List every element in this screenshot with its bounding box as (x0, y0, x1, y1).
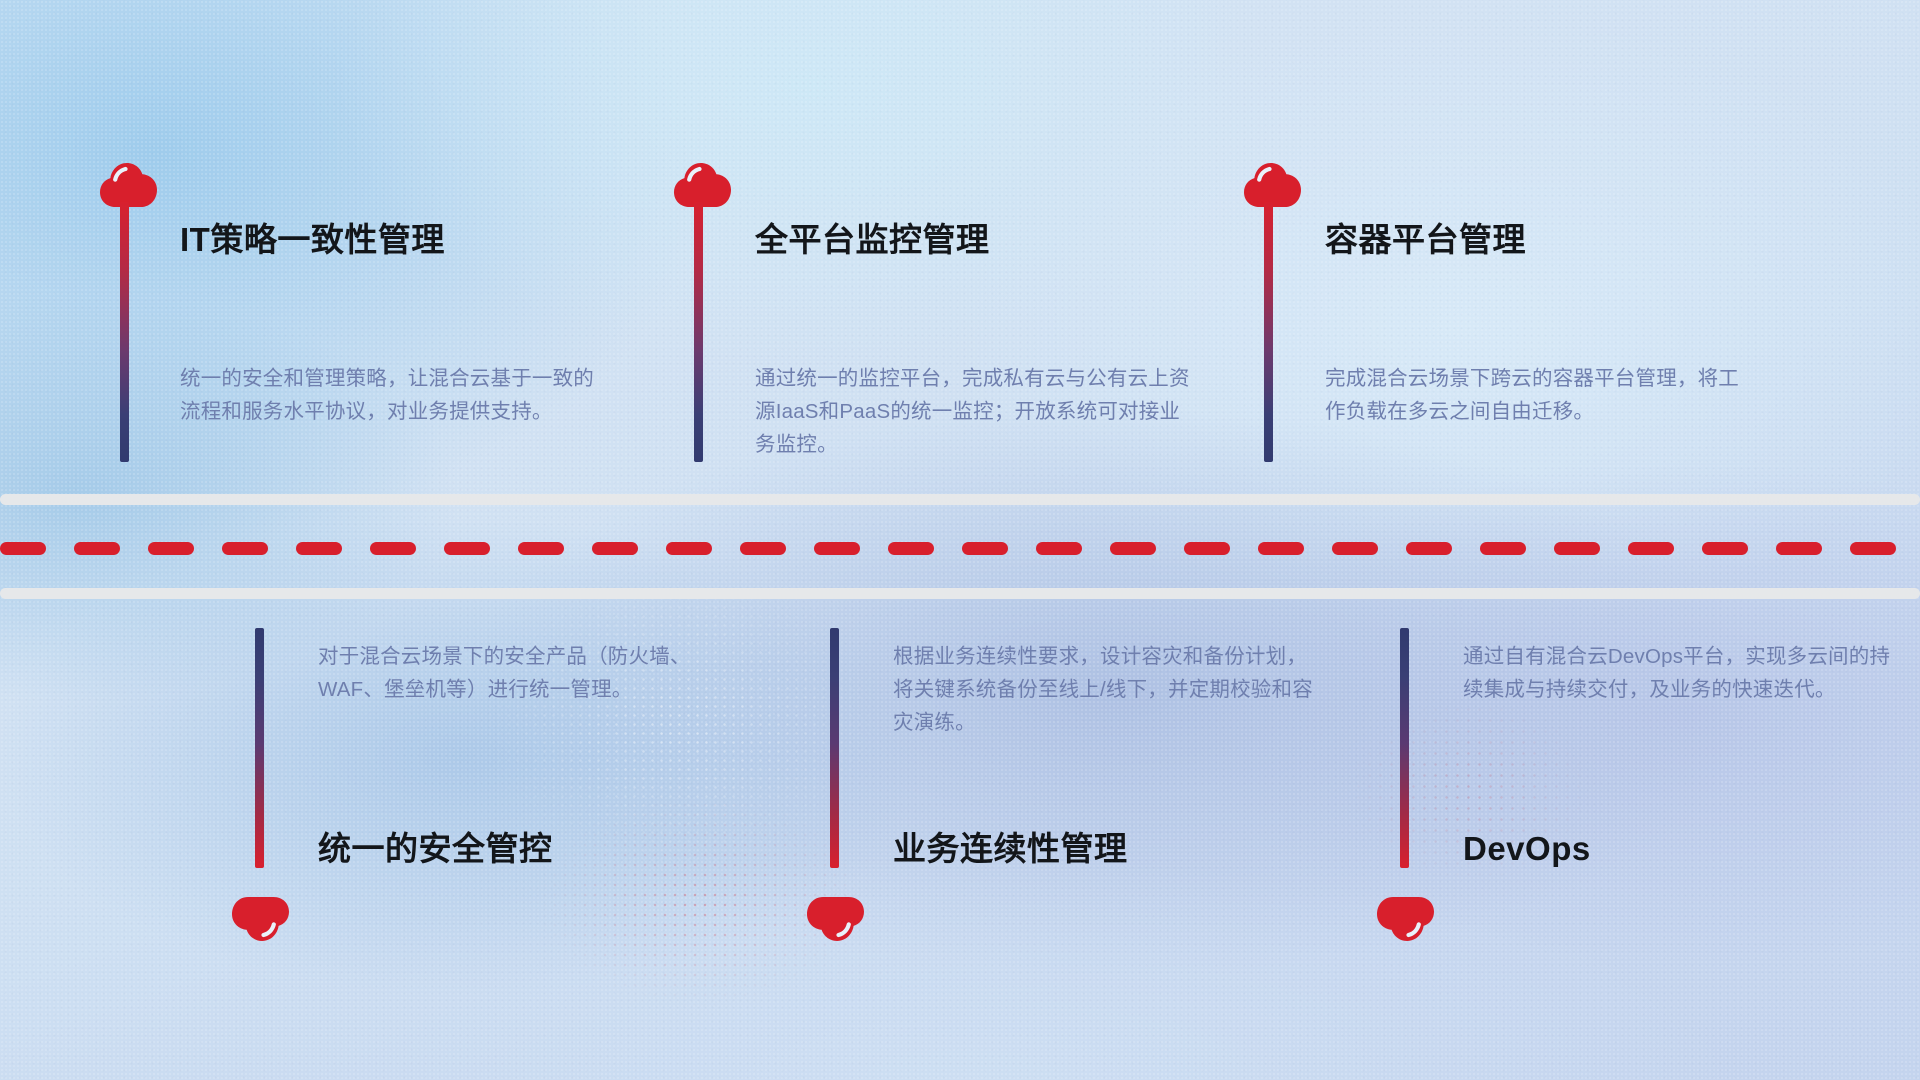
divider-dash (1554, 542, 1600, 555)
top-column-2-body: 通过统一的监控平台，完成私有云与公有云上资源IaaS和PaaS的统一监控；开放系… (755, 362, 1195, 461)
top-column-3-cloud (1242, 160, 1304, 208)
divider-dash (888, 542, 934, 555)
divider-dash (1480, 542, 1526, 555)
divider-dash (740, 542, 786, 555)
divider-dash (444, 542, 490, 555)
divider-line-dashed (0, 542, 1920, 555)
top-column-1-cloud (98, 160, 160, 208)
cloud-icon (804, 896, 866, 944)
divider-dash (370, 542, 416, 555)
cloud-icon (1242, 160, 1304, 208)
bottom-column-1-stem (255, 628, 264, 868)
divider-dash (1776, 542, 1822, 555)
bottom-column-3-heading: DevOps (1463, 832, 1591, 865)
divider-dash (592, 542, 638, 555)
top-column-3-stem (1264, 202, 1273, 462)
divider-dash (148, 542, 194, 555)
bottom-column-1-cloud (229, 896, 291, 944)
top-column-3-body: 完成混合云场景下跨云的容器平台管理，将工作负载在多云之间自由迁移。 (1325, 362, 1755, 428)
top-column-2-cloud (672, 160, 734, 208)
bottom-column-1-heading: 统一的安全管控 (318, 832, 553, 865)
divider-dash (74, 542, 120, 555)
cloud-icon (98, 160, 160, 208)
divider-dash (1258, 542, 1304, 555)
bottom-column-2-heading: 业务连续性管理 (893, 832, 1128, 865)
divider-dash (1850, 542, 1896, 555)
top-column-1-heading: IT策略一致性管理 (180, 223, 445, 256)
divider-dash (1110, 542, 1156, 555)
top-column-2-stem (694, 202, 703, 462)
divider-dash (666, 542, 712, 555)
bottom-column-2-cloud (804, 896, 866, 944)
infographic-canvas: IT策略一致性管理 统一的安全和管理策略，让混合云基于一致的流程和服务水平协议，… (0, 0, 1920, 1080)
divider-line-top (0, 494, 1920, 505)
cloud-icon (672, 160, 734, 208)
top-column-3-heading: 容器平台管理 (1325, 223, 1526, 256)
divider-dash (814, 542, 860, 555)
divider-dash (0, 542, 46, 555)
divider-dash (1702, 542, 1748, 555)
bottom-column-2-stem (830, 628, 839, 868)
divider-dash (1184, 542, 1230, 555)
divider-dash (1036, 542, 1082, 555)
divider-dash (1628, 542, 1674, 555)
bottom-column-3-cloud (1374, 896, 1436, 944)
top-column-1-stem (120, 202, 129, 462)
divider-dash (222, 542, 268, 555)
bottom-column-2-body: 根据业务连续性要求，设计容灾和备份计划，将关键系统备份至线上/线下，并定期校验和… (893, 640, 1323, 739)
divider-dash (518, 542, 564, 555)
top-column-2-heading: 全平台监控管理 (755, 223, 990, 256)
divider-dash (1332, 542, 1378, 555)
cloud-icon (1374, 896, 1436, 944)
bottom-column-1-body: 对于混合云场景下的安全产品（防火墙、WAF、堡垒机等）进行统一管理。 (318, 640, 738, 706)
cloud-icon (229, 896, 291, 944)
divider-dash (1406, 542, 1452, 555)
bottom-column-3-body: 通过自有混合云DevOps平台，实现多云间的持续集成与持续交付，及业务的快速迭代… (1463, 640, 1893, 706)
bottom-column-3-stem (1400, 628, 1409, 868)
divider-dash (296, 542, 342, 555)
top-column-1-body: 统一的安全和管理策略，让混合云基于一致的流程和服务水平协议，对业务提供支持。 (180, 362, 610, 428)
divider-dash (962, 542, 1008, 555)
divider-line-bottom (0, 588, 1920, 599)
